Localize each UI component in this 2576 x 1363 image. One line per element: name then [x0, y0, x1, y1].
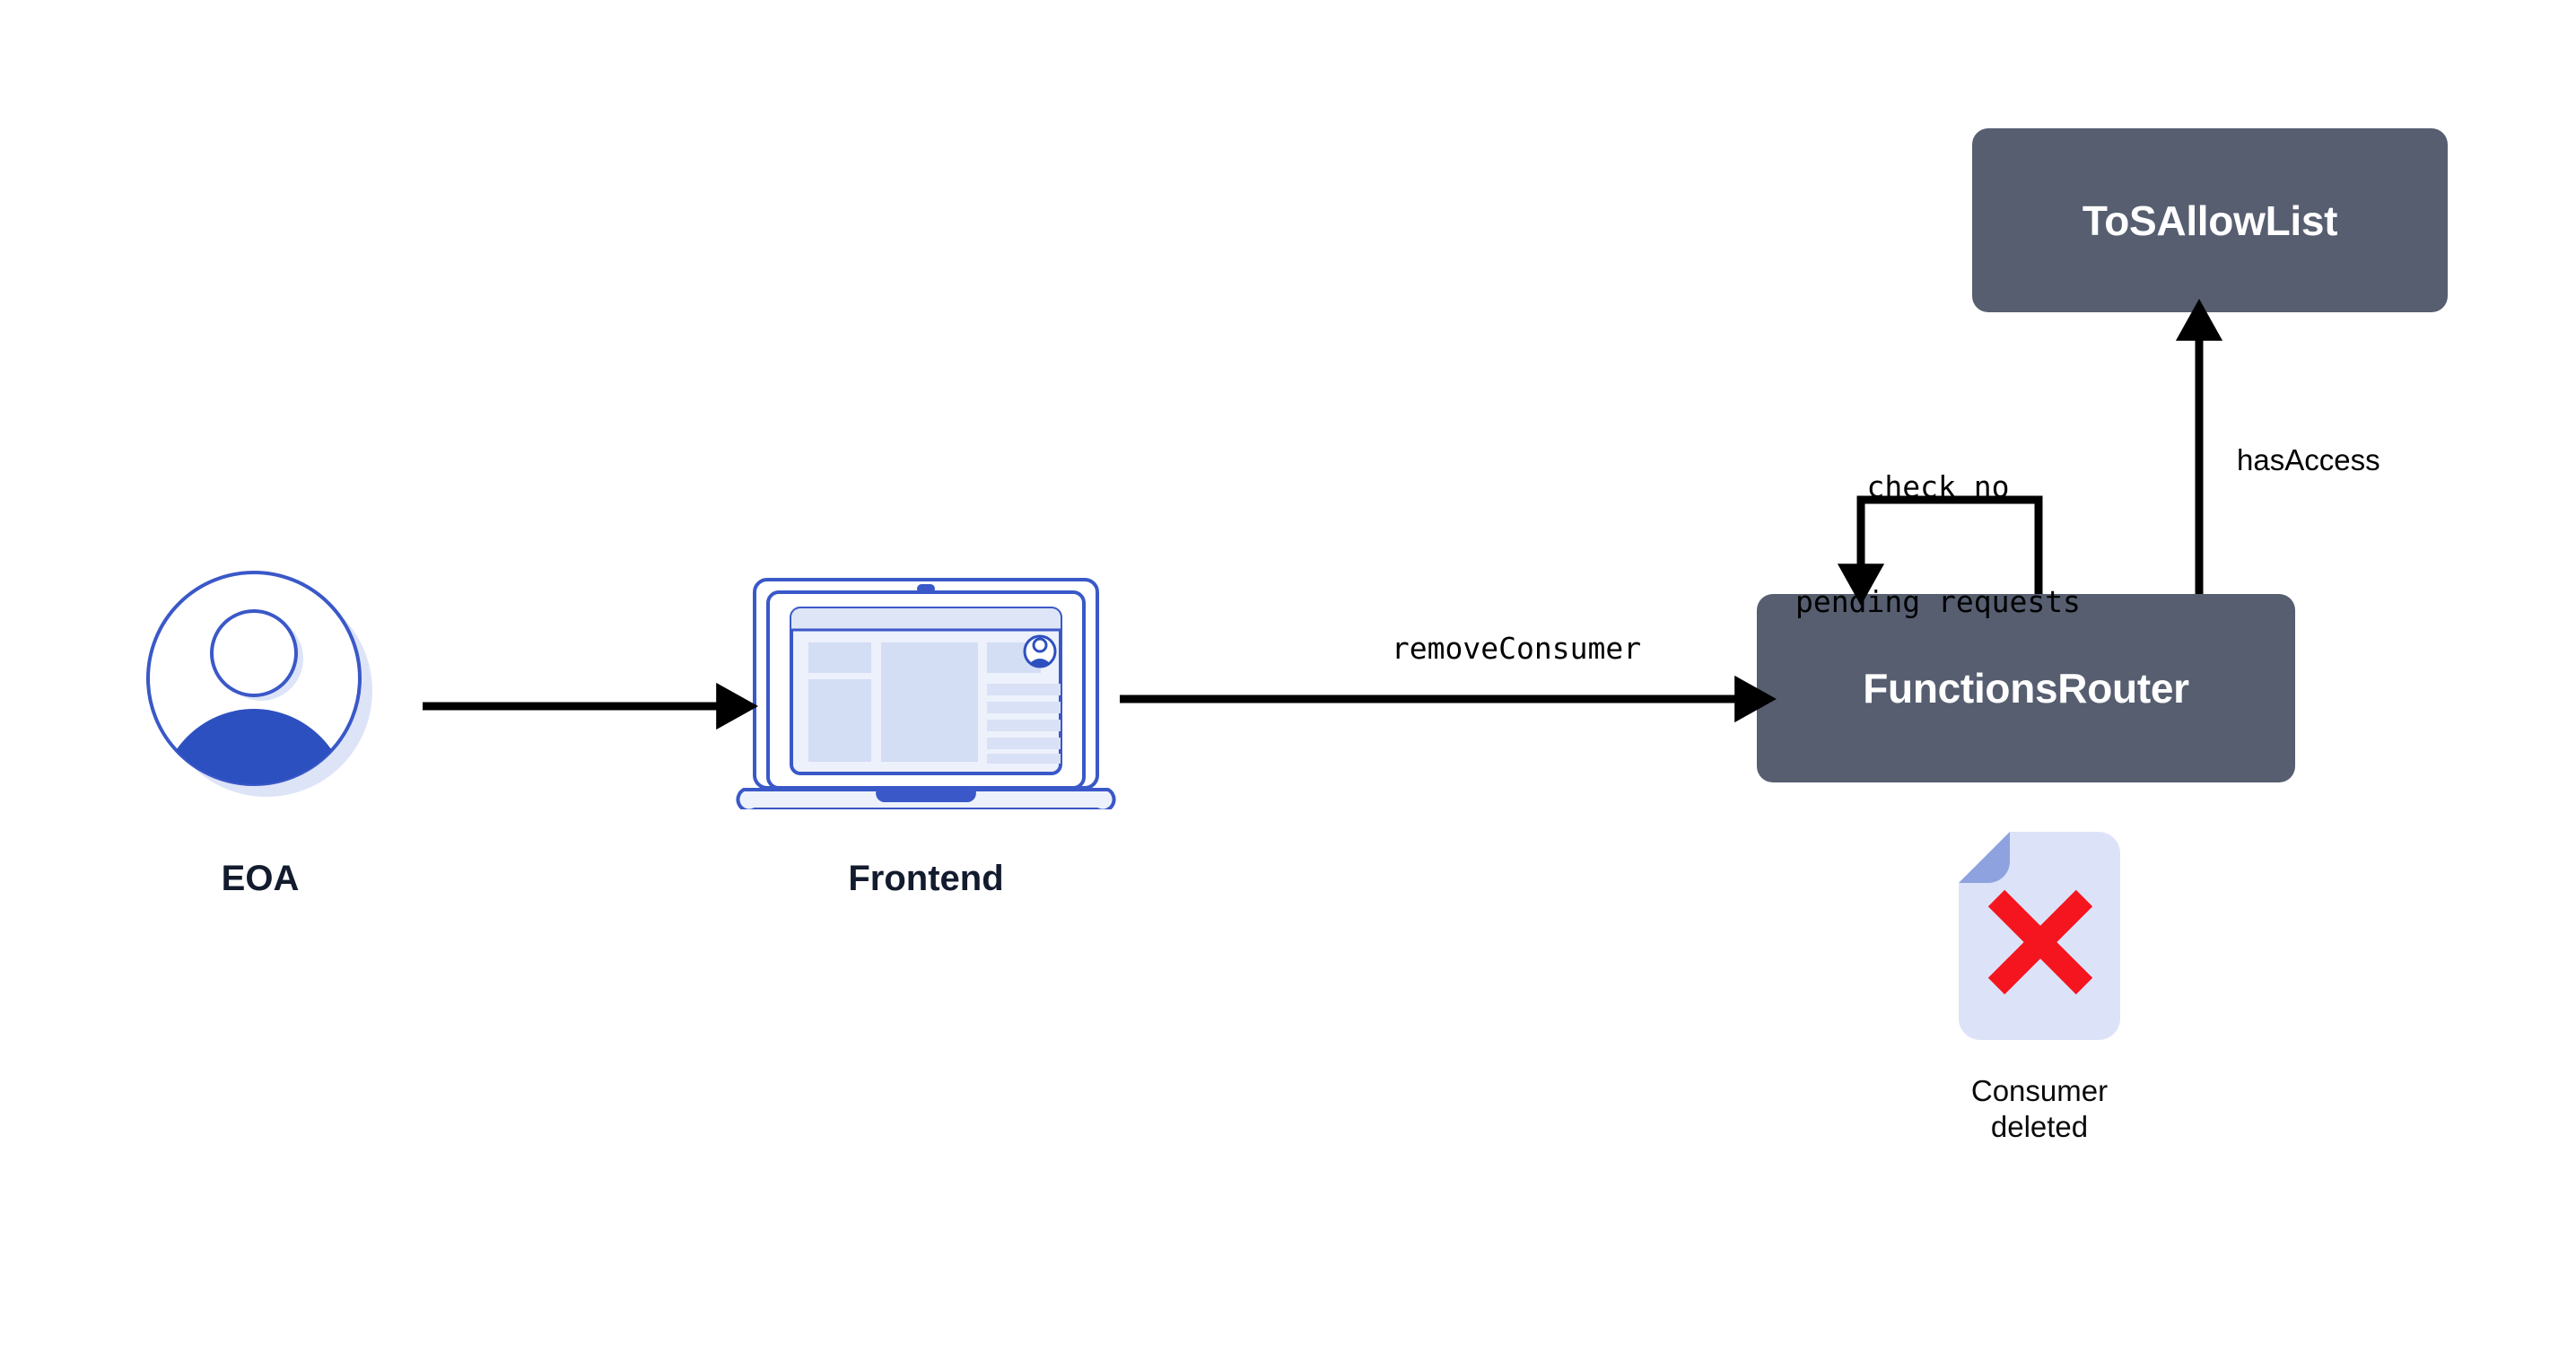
node-tos-allow-list[interactable]: ToSAllowList: [1972, 128, 2448, 312]
edge-label-has-access: hasAccess: [2237, 443, 2380, 477]
node-frontend[interactable]: [729, 567, 1123, 809]
node-consumer-deleted[interactable]: [1959, 832, 2120, 1040]
edge-label-check-no-pending-requests: check no pending requests: [1705, 391, 2171, 699]
node-eoa[interactable]: [139, 564, 381, 806]
consumer-deleted-line-1: Consumer: [1878, 1073, 2201, 1109]
node-frontend-label: Frontend: [729, 859, 1123, 899]
document-delete-icon: [1959, 832, 2120, 1040]
node-tos-allow-list-label: ToSAllowList: [2083, 197, 2337, 245]
diagram-canvas: EOA: [0, 0, 2576, 1363]
node-consumer-deleted-label: Consumer deleted: [1878, 1073, 2201, 1146]
user-avatar-icon: [139, 564, 381, 806]
consumer-deleted-line-2: deleted: [1878, 1109, 2201, 1145]
check-pending-line-2: pending requests: [1705, 583, 2171, 622]
laptop-icon: [729, 567, 1123, 809]
check-pending-line-1: check no: [1705, 468, 2171, 507]
node-eoa-label: EOA: [139, 859, 381, 899]
